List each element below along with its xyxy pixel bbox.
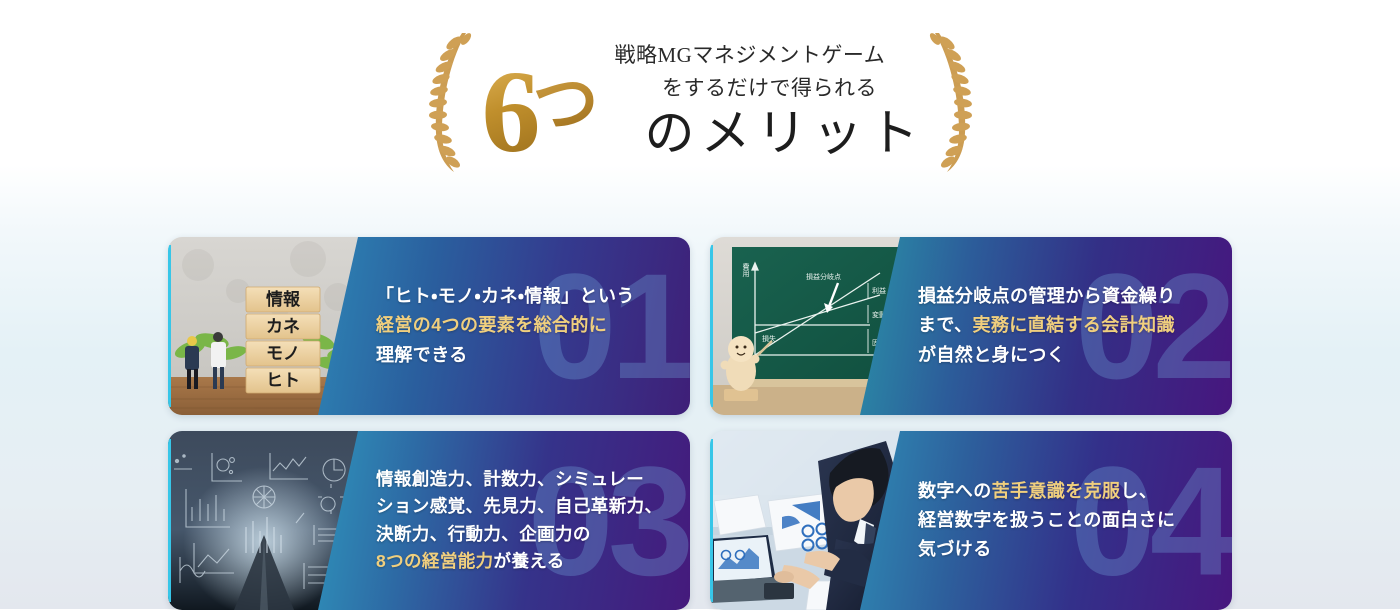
card-line: 理解できる [376,341,670,370]
card-line: 情報創造力、計数力、シミュレー [376,466,670,493]
headline-line-1: 戦略MGマネジメントゲーム [615,39,886,72]
svg-text:費用: 費用 [742,262,750,278]
svg-text:情報: 情報 [266,289,301,310]
headline-text-group: 戦略MGマネジメントゲーム をするだけで得られる のメリット [615,39,925,161]
card-line: 決断力、行動力、企画力の [376,521,670,548]
merit-card-02[interactable]: 費用 売上 損益分岐点 利益 変動費 固定費 損失 [710,237,1232,415]
card-line: 損益分岐点の管理から資金繰り [918,282,1212,311]
merit-card-grid: 情報 カネ モノ ヒト 01 「ヒ [168,237,1232,610]
svg-text:利益: 利益 [872,286,886,295]
headline-line-2: をするだけで得られる [662,72,877,105]
merit-card-04-body: 04 数字への苦手意識を克服し、 経営数字を扱うことの面白さに 気づける [860,431,1232,610]
headline-counter: つ [533,50,599,146]
card-line: 8つの経営能力が養える [376,548,670,575]
card-line: ション感覚、先見力、自己革新力、 [376,493,670,520]
merit-card-04-text: 数字への苦手意識を克服し、 経営数字を扱うことの面白さに 気づける [918,477,1212,564]
headline-merit: のメリット [645,106,925,161]
page-headline: 6 つ 戦略MGマネジメントゲーム をするだけで得られる のメリット [0,0,1400,200]
merit-card-03-body: 03 情報創造力、計数力、シミュレー ション感覚、先見力、自己革新力、 決断力、… [318,431,690,610]
svg-text:損失: 損失 [762,334,776,343]
merit-card-02-body: 02 損益分岐点の管理から資金繰り まで、実務に直結する会計知識 が自然と身につ… [860,237,1232,415]
merit-card-01-text: 「ヒト・モノ・カネ・情報」という 経営の4つの要素を総合的に 理解できる [376,282,670,369]
headline-number: 6 [482,58,539,167]
laurel-left-icon [416,25,476,175]
svg-text:モノ: モノ [266,344,300,364]
card-line: 経営の4つの要素を総合的に [376,311,670,340]
card-line: 経営数字を扱うことの面白さに [918,506,1212,535]
card-line: 「ヒト・モノ・カネ・情報」という [376,282,670,311]
merit-card-02-text: 損益分岐点の管理から資金繰り まで、実務に直結する会計知識 が自然と身につく [918,282,1212,369]
svg-text:損益分岐点: 損益分岐点 [806,272,841,281]
merit-card-01[interactable]: 情報 カネ モノ ヒト 01 「ヒ [168,237,690,415]
svg-text:カネ: カネ [266,317,300,337]
card-line: 数字への苦手意識を克服し、 [918,477,1212,506]
laurel-right-icon [925,25,985,175]
merit-card-03[interactable]: 03 情報創造力、計数力、シミュレー ション感覚、先見力、自己革新力、 決断力、… [168,431,690,610]
merit-card-01-body: 01 「ヒト・モノ・カネ・情報」という 経営の4つの要素を総合的に 理解できる [318,237,690,415]
merit-card-04[interactable]: 04 数字への苦手意識を克服し、 経営数字を扱うことの面白さに 気づける [710,431,1232,610]
merit-card-03-text: 情報創造力、計数力、シミュレー ション感覚、先見力、自己革新力、 決断力、行動力… [376,466,670,575]
headline-number-group: 6 つ [476,46,611,155]
svg-text:ヒト: ヒト [266,371,300,391]
card-line: が自然と身につく [918,341,1212,370]
card-line: 気づける [918,535,1212,564]
card-line: まで、実務に直結する会計知識 [918,311,1212,340]
